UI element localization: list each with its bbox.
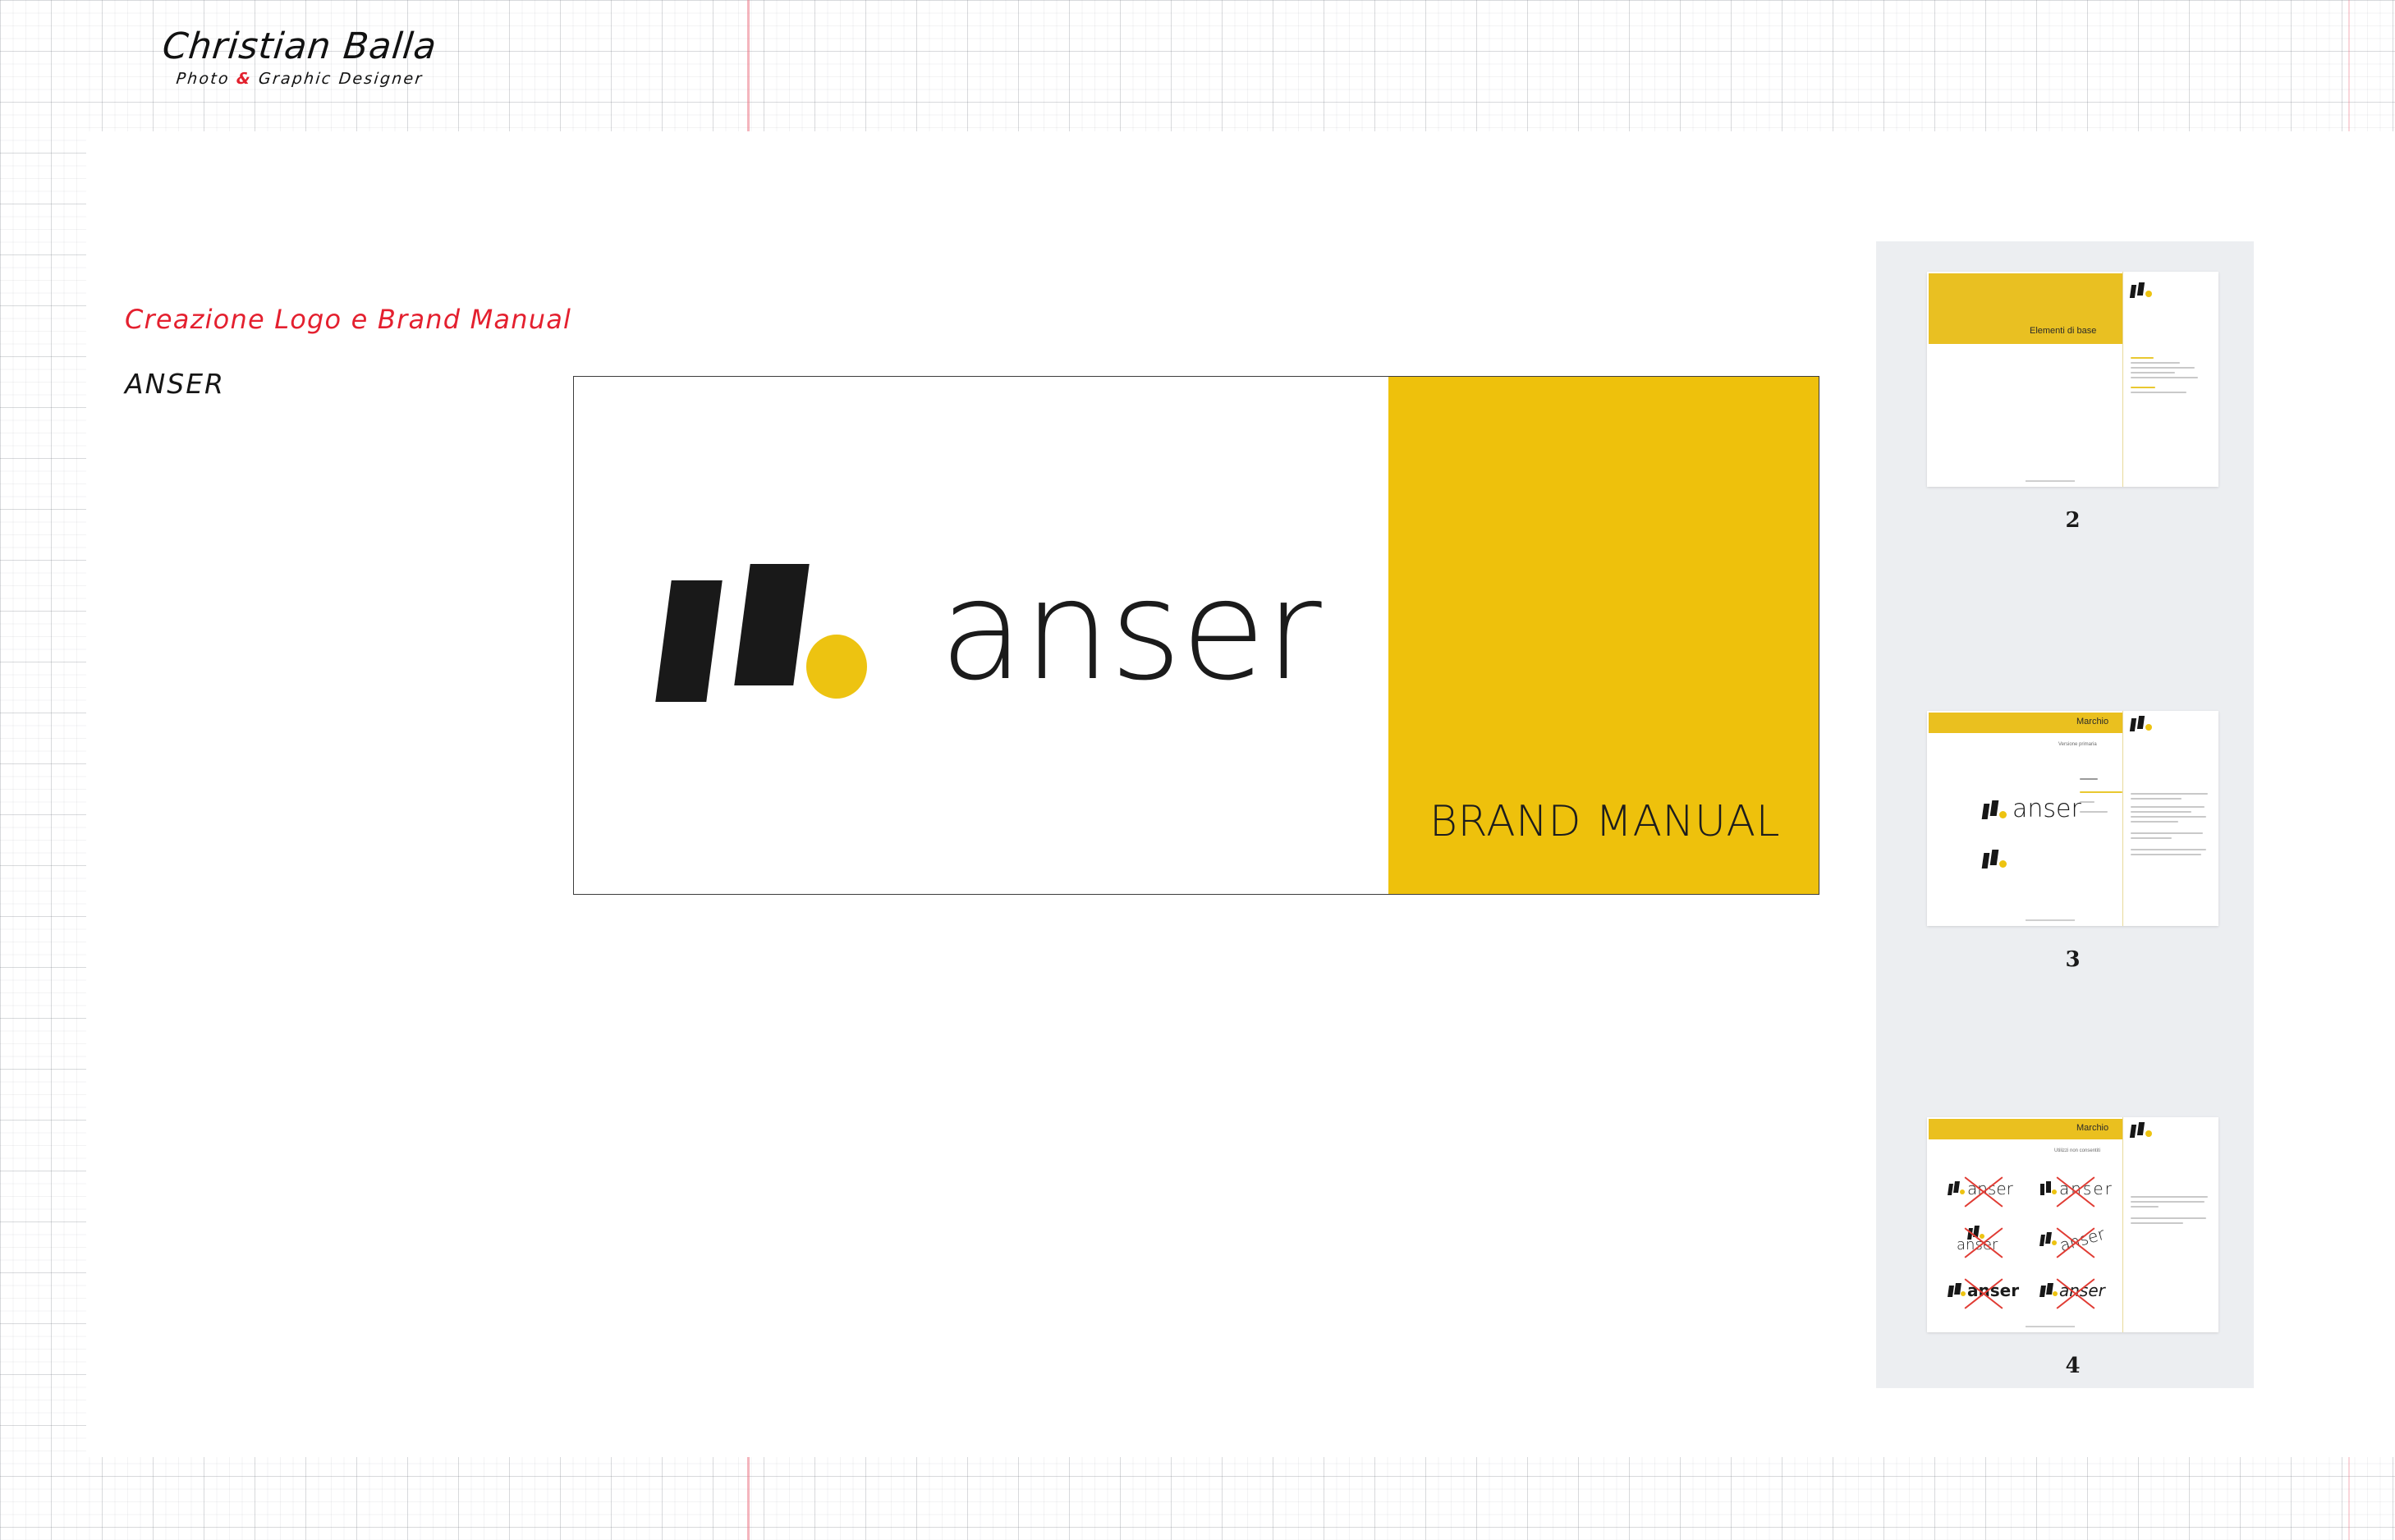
thumb-body-line: [2131, 821, 2178, 823]
thumb-measure-line: [2080, 778, 2098, 780]
thumbnail-page-number-4: 4: [1927, 1354, 2218, 1378]
thumb-bar-right: [1990, 850, 1999, 865]
thumb-measure-notes: [2080, 778, 2122, 816]
misuse-cross-icon: [1943, 1219, 2024, 1267]
thumb-gutter: [2122, 272, 2123, 487]
thumb-body-line: [2131, 854, 2201, 855]
logo-bar-right: [735, 564, 810, 685]
thumb-gutter: [2122, 1117, 2123, 1332]
thumb-body-line: [2131, 806, 2205, 808]
thumb-subtitle-3: Versione primaria: [2058, 742, 2097, 747]
thumb-body-line: [2131, 816, 2206, 818]
thumb-logo-mark-icon: [1983, 800, 2007, 819]
logo-dot-icon: [806, 635, 867, 699]
thumb-body-line: [2131, 832, 2203, 834]
thumbnail-entry-4[interactable]: Marchio Utilizzi non consentiti anser: [1927, 1117, 2218, 1378]
hero-logo-zone: anser: [574, 377, 1389, 894]
anser-logo-mark-icon: [662, 552, 874, 708]
client-name: ANSER: [125, 368, 225, 400]
thumb-gutter: [2122, 711, 2123, 926]
project-title: Creazione Logo e Brand Manual: [125, 304, 571, 335]
thumb-footer-rule: [2026, 919, 2075, 921]
thumbnail-page-4[interactable]: Marchio Utilizzi non consentiti anser: [1927, 1117, 2218, 1332]
thumb-bar-left: [2130, 718, 2136, 731]
misuse-cross-icon: [2035, 1168, 2116, 1216]
logo-misuse-example: anser: [1948, 1275, 2019, 1313]
thumb-body-copy: [2131, 793, 2209, 859]
brand-manual-label: BRAND MANUAL: [1429, 797, 1780, 846]
thumb-logo-lockup-primary: anser: [1983, 800, 2081, 819]
anser-logo-lockup: anser: [662, 552, 1320, 708]
thumb-measure-line: [2080, 801, 2094, 803]
thumb-toc-line: [2131, 362, 2180, 364]
thumb-dot-icon: [2145, 291, 2152, 297]
thumb-bar-right: [2137, 1122, 2145, 1135]
thumb-toc-line: [2131, 372, 2175, 374]
thumb-section-title-3: Marchio: [2076, 717, 2108, 726]
designer-signature-logo: Christian Balla Photo & Graphic Designer: [123, 29, 476, 119]
misuse-cross-icon: [1943, 1270, 2024, 1318]
thumbnail-entry-2[interactable]: Elementi di base 2: [1927, 272, 2218, 533]
thumb-body-line: [2131, 1196, 2208, 1198]
thumb-dot-icon: [2145, 724, 2152, 731]
thumb-subtitle-4: Utilizzi non consentiti: [2054, 1148, 2100, 1153]
logo-misuse-example: anser: [2040, 1224, 2111, 1262]
designer-name: Christian Balla: [122, 29, 479, 65]
thumbnail-page-2[interactable]: Elementi di base: [1927, 272, 2218, 487]
thumb-measure-line: [2080, 811, 2108, 813]
thumb-body-line: [2131, 1206, 2159, 1208]
misuse-cross-icon: [2035, 1270, 2116, 1318]
thumb-body-line: [2131, 1201, 2205, 1203]
thumb-logo-mark-icon: [2131, 715, 2152, 731]
thumb-body-line: [2131, 798, 2182, 800]
thumb-logo-mark-icon: [2131, 1121, 2152, 1138]
thumb-toc-line: [2131, 392, 2186, 393]
thumb-toc-line: [2131, 367, 2195, 369]
misuse-cross-icon: [2035, 1219, 2116, 1267]
thumb-logo-mark-only-icon: [1983, 849, 2007, 869]
thumb-bar-right: [1990, 800, 1999, 816]
misuse-cross-icon: [1943, 1168, 2024, 1216]
thumb-toc-line: [2131, 377, 2198, 378]
logo-bar-left: [656, 580, 723, 702]
logo-misuse-example: anser: [2040, 1173, 2111, 1211]
thumb-section-title-4: Marchio: [2076, 1123, 2108, 1133]
thumb-body-copy: [2131, 1196, 2209, 1227]
thumb-wordmark: anser: [2012, 800, 2081, 819]
anser-wordmark: anser: [939, 575, 1320, 685]
thumb-dot-icon: [1999, 860, 2007, 868]
thumb-dot-icon: [2145, 1130, 2152, 1137]
thumb-logo-mark-icon: [2131, 282, 2152, 298]
thumb-bar-left: [1982, 853, 1990, 869]
thumb-measure-line: [2080, 791, 2122, 793]
thumbnail-page-3[interactable]: Marchio Versione primaria anser: [1927, 711, 2218, 926]
thumbnail-entry-3[interactable]: Marchio Versione primaria anser: [1927, 711, 2218, 972]
designer-role-prefix: Photo: [175, 70, 237, 88]
thumb-bar-right: [2137, 716, 2145, 729]
designer-role-suffix: Graphic Designer: [251, 70, 424, 88]
designer-role: Photo & Graphic Designer: [122, 70, 477, 88]
thumb-body-line: [2131, 793, 2208, 795]
thumb-bar-left: [1982, 804, 1990, 819]
thumb-toc-list: [2131, 357, 2209, 396]
hero-yellow-panel: BRAND MANUAL: [1388, 377, 1819, 894]
thumb-bar-right: [2137, 282, 2145, 296]
hero-cover-card[interactable]: anser BRAND MANUAL: [573, 376, 1819, 895]
thumb-body-line: [2131, 1222, 2183, 1224]
thumb-body-line: [2131, 849, 2206, 850]
thumbnail-page-number-2: 2: [1927, 508, 2218, 533]
thumb-footer-rule: [2026, 1326, 2075, 1327]
thumb-section-title-2: Elementi di base: [2030, 326, 2096, 336]
thumb-toc-line: [2131, 387, 2155, 388]
thumb-body-line: [2131, 811, 2191, 813]
logo-misuse-example: anser: [2040, 1275, 2111, 1313]
logo-misuse-example: anser: [1948, 1173, 2019, 1211]
page-thumbnail-rail: Elementi di base 2 Marchio: [1876, 241, 2254, 1388]
thumb-footer-rule: [2026, 480, 2075, 482]
thumbnail-page-number-3: 3: [1927, 947, 2218, 972]
thumb-toc-line: [2131, 357, 2154, 359]
ampersand-glyph: &: [236, 70, 253, 88]
thumb-body-line: [2131, 1217, 2206, 1219]
thumb-body-line: [2131, 837, 2172, 839]
thumb-dot-icon: [1999, 811, 2007, 818]
logo-misuse-example: anser: [1948, 1224, 2019, 1262]
thumb-bar-left: [2130, 1125, 2136, 1138]
thumb-bar-left: [2130, 285, 2136, 298]
